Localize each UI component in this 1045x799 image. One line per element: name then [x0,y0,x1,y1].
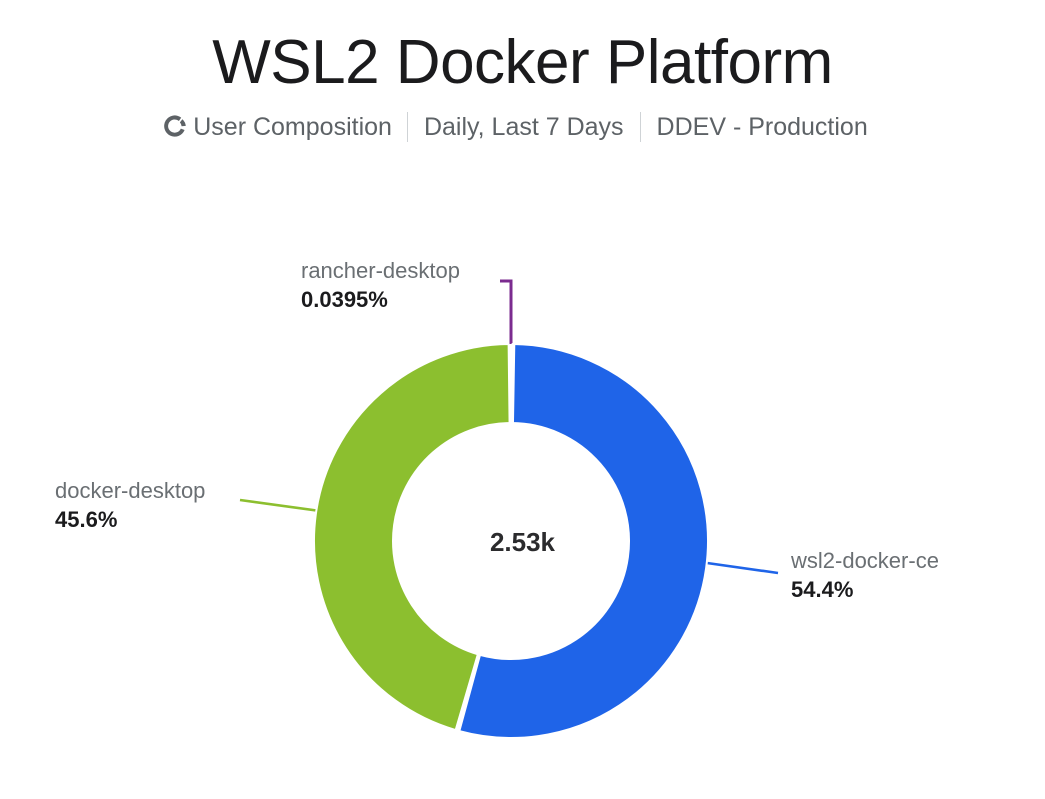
slice-rancher-desktop[interactable] [512,344,514,423]
callout-label-docker-desktop: docker-desktop [55,478,205,504]
subtitle-range: Daily, Last 7 Days [408,113,640,142]
subtitle-range-label: Daily, Last 7 Days [424,113,624,142]
chart-subtitle-bar: User Composition Daily, Last 7 Days DDEV… [0,112,1045,142]
donut-slices [314,344,708,738]
callout-value-docker-desktop: 45.6% [55,507,205,533]
leader-line-docker-desktop [240,500,320,511]
leader-line-rancher-desktop [500,281,511,344]
callout-rancher-desktop: rancher-desktop 0.0395% [301,258,460,313]
callout-wsl2-docker-ce: wsl2-docker-ce 54.4% [791,548,939,603]
chart-header: WSL2 Docker Platform User Composition Da… [0,0,1045,142]
donut-chart-icon [161,112,191,142]
subtitle-metric-label: User Composition [193,113,392,142]
callout-docker-desktop: docker-desktop 45.6% [55,478,205,533]
callout-label-rancher-desktop: rancher-desktop [301,258,460,284]
leader-line-wsl2-docker-ce [700,562,778,573]
callout-label-wsl2-docker-ce: wsl2-docker-ce [791,548,939,574]
page-title: WSL2 Docker Platform [0,0,1045,95]
slice-wsl2-docker-ce[interactable] [459,344,708,738]
slice-docker-desktop[interactable] [314,344,510,730]
chart-page: WSL2 Docker Platform User Composition Da… [0,0,1045,799]
subtitle-metric: User Composition [161,112,407,142]
callout-value-wsl2-docker-ce: 54.4% [791,577,939,603]
callout-value-rancher-desktop: 0.0395% [301,287,460,313]
subtitle-source-label: DDEV - Production [657,113,868,142]
subtitle-source: DDEV - Production [641,113,884,142]
